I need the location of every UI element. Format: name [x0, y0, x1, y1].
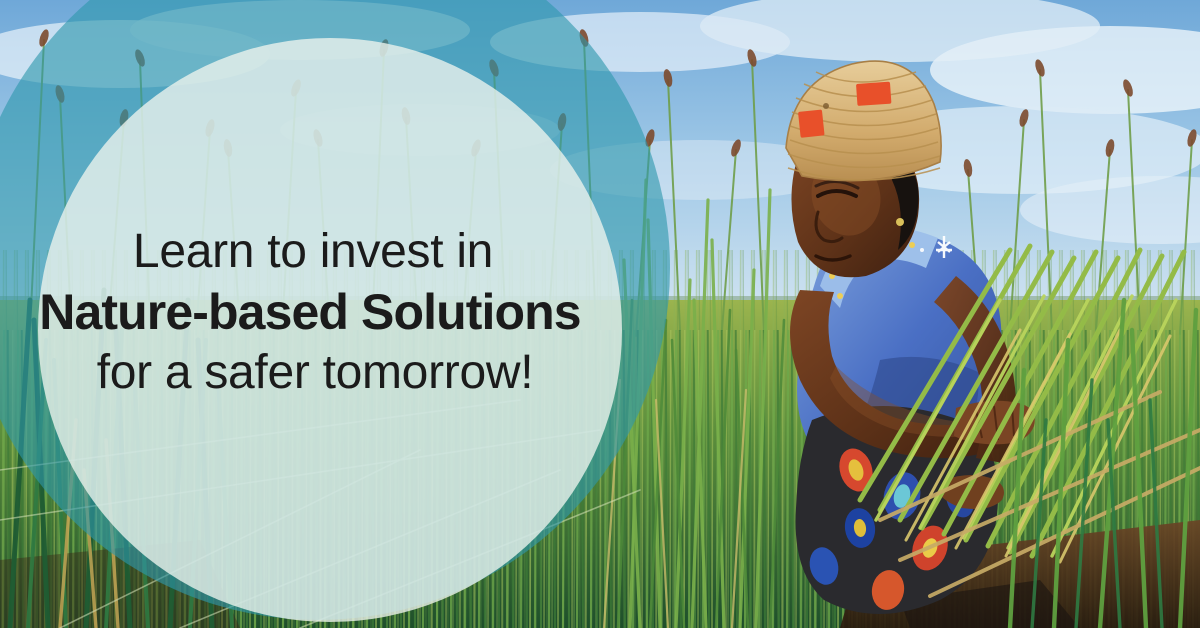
- hat-patch-left: [798, 109, 825, 137]
- wetland-photo-illustration: [0, 0, 1200, 628]
- promo-banner: Learn to invest in Nature-based Solution…: [0, 0, 1200, 628]
- hat-patch-right: [856, 82, 891, 106]
- light-overlay-circle: [38, 38, 622, 622]
- earring: [896, 218, 904, 226]
